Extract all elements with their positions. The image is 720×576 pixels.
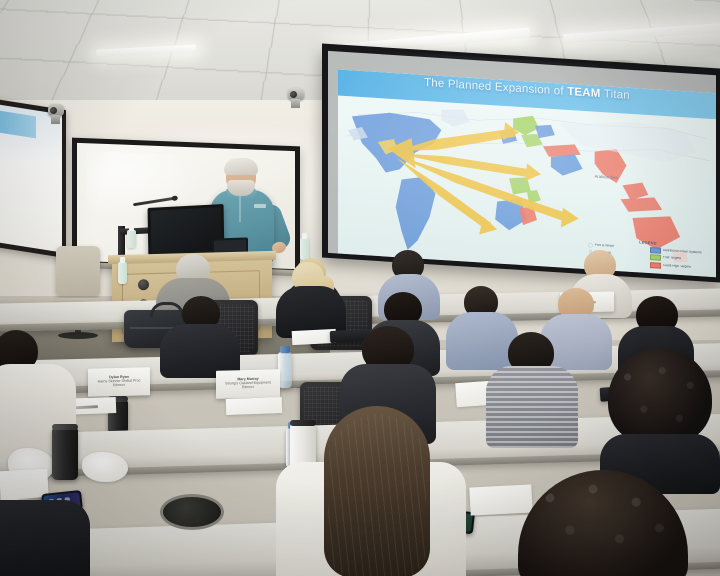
water-bottle — [278, 352, 292, 388]
presenter-hair — [224, 158, 258, 175]
audience-member-foreground — [500, 470, 700, 576]
bottle-cap — [280, 346, 291, 353]
crumpled-tissue — [82, 452, 128, 482]
monitor-screen — [151, 207, 222, 254]
hand-sanitizer-bottle — [118, 262, 127, 284]
hair-strand-texture — [328, 414, 426, 576]
name-tent-org: Edenus — [242, 386, 254, 390]
tumbler-lid — [52, 424, 78, 430]
legend-label: Distribution River Systems — [663, 249, 702, 255]
legend-label: Costs High Targets — [663, 264, 691, 270]
ptz-camera-icon — [288, 88, 304, 100]
presenter-shirt-placket — [239, 196, 241, 222]
legend-swatches-column: Distribution River Systems First Targets… — [650, 247, 708, 273]
travel-tumbler — [52, 428, 78, 480]
secondary-screen-surface — [0, 103, 62, 252]
main-projection-screen: The Planned Expansion of TEAM Titan — [322, 43, 720, 282]
name-tent: Mary Murray Strong's Oakland Equipment E… — [216, 369, 280, 399]
presentation-slide: The Planned Expansion of TEAM Titan — [338, 69, 716, 277]
hand-sanitizer-bottle — [127, 230, 136, 248]
screen-surface: The Planned Expansion of TEAM Titan — [328, 51, 716, 277]
hand-sanitizer-bottle — [300, 238, 309, 260]
hair-texture — [606, 354, 714, 446]
audience-member — [160, 296, 240, 370]
region-indonesia — [621, 195, 663, 214]
legend-swatch-green — [650, 254, 661, 261]
hair-texture — [520, 474, 686, 576]
name-tent: Dylan Ryan Harris-Skinner Global Proc Ed… — [88, 367, 150, 397]
person-torso — [0, 500, 90, 576]
paper-sheet — [226, 397, 283, 415]
chair-back — [56, 246, 100, 296]
classroom-photo: The Planned Expansion of TEAM Titan — [0, 0, 720, 576]
circle-marker-icon: ◯ — [588, 243, 593, 248]
region-arabia — [551, 153, 583, 177]
legend-label: First Targets — [663, 256, 681, 261]
coffee-mug — [160, 494, 224, 530]
secondary-screen-content — [0, 110, 36, 138]
audience-member — [276, 262, 346, 336]
slide-title-bold: TEAM — [567, 86, 600, 100]
audience-member-foreground — [276, 406, 466, 576]
ptz-camera-icon — [48, 104, 64, 116]
presenter-shirt-logo — [254, 204, 266, 208]
legend-label: Port & Wharf — [595, 244, 614, 249]
slide-title-suffix: Titan — [601, 88, 630, 102]
audience-member — [600, 348, 720, 488]
striped-shirt-pattern — [486, 366, 578, 448]
legend-swatch-red — [650, 262, 661, 269]
region-asia — [559, 117, 696, 164]
region-greenland — [441, 108, 469, 128]
name-tent-org: Edenus — [113, 384, 125, 388]
audience-member-foreground — [0, 500, 90, 576]
legend-swatch-blue — [650, 247, 661, 254]
map-annotation: Arabian Sea — [595, 174, 619, 180]
